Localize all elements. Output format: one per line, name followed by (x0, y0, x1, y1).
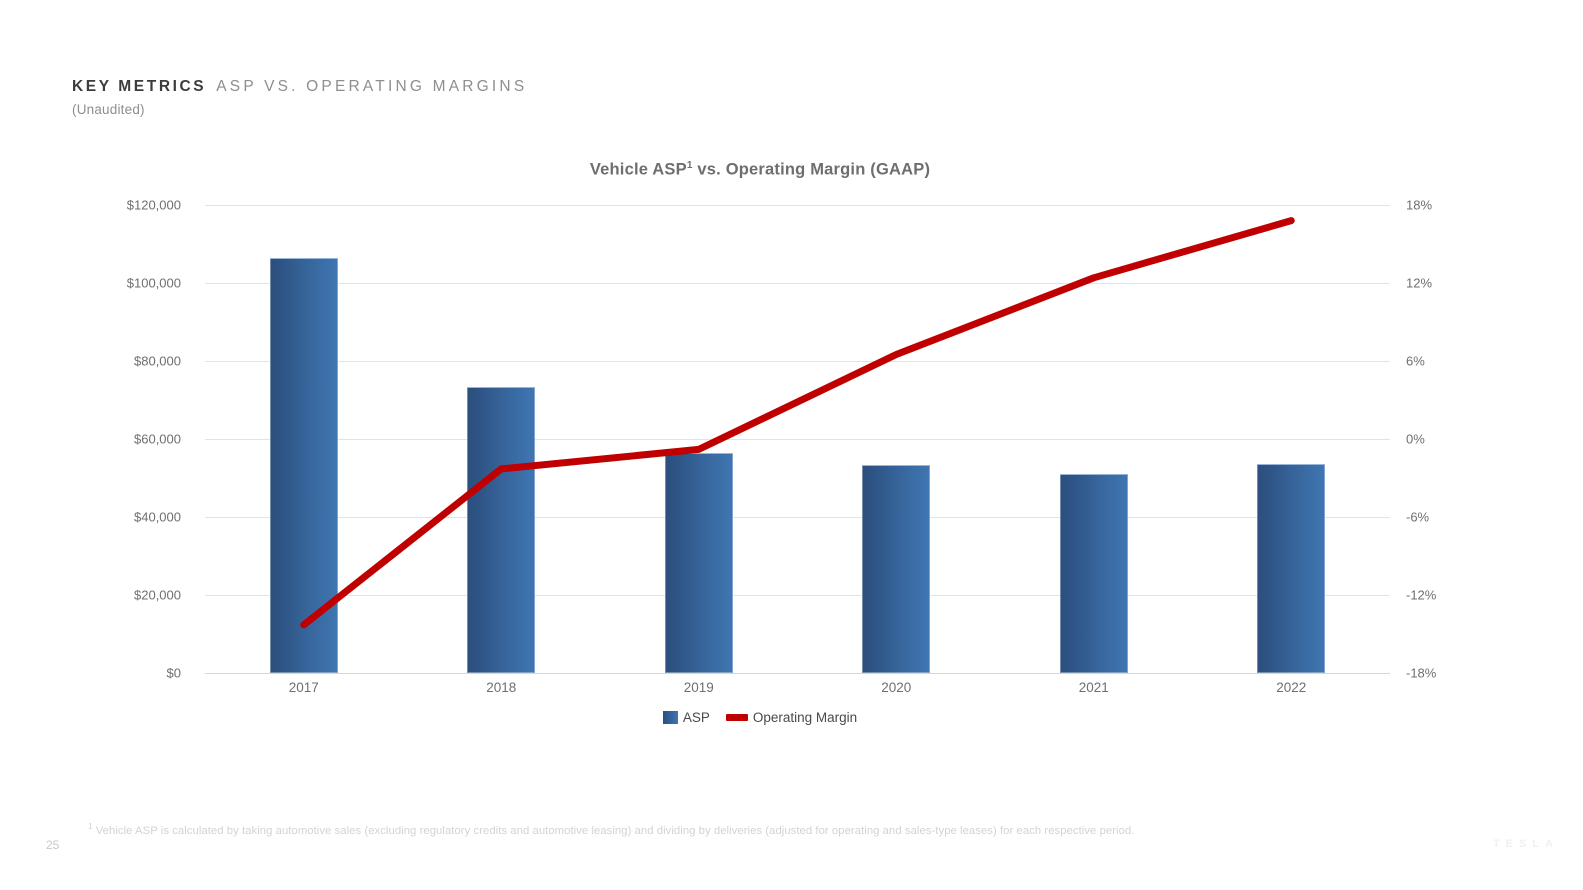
right-axis-labels: -18%-12%-6%0%6%12%18% (1396, 205, 1516, 673)
legend-swatch-line-icon (726, 714, 748, 721)
right-axis-tick: 0% (1406, 433, 1425, 446)
right-axis-tick: 6% (1406, 355, 1425, 368)
x-axis-tick-2022: 2022 (1276, 680, 1306, 695)
legend-item-asp[interactable]: ASP (663, 710, 710, 725)
right-axis-tick: -6% (1406, 511, 1429, 524)
operating-margin-line (304, 221, 1292, 625)
unaudited-note: (Unaudited) (72, 102, 527, 117)
legend-swatch-bar-icon (663, 711, 678, 724)
left-axis-labels: $0$20,000$40,000$60,000$80,000$100,000$1… (0, 205, 195, 673)
left-axis-tick: $60,000 (134, 433, 181, 446)
left-axis-tick: $40,000 (134, 511, 181, 524)
legend-item-operating-margin[interactable]: Operating Margin (726, 710, 857, 725)
chart-title: Vehicle ASP1 vs. Operating Margin (GAAP) (0, 160, 1520, 180)
left-axis-tick: $20,000 (134, 589, 181, 602)
x-axis-labels: 201720182019202020212022 (205, 680, 1390, 710)
chart-title-main: Vehicle ASP (590, 161, 687, 179)
gridline (205, 673, 1390, 674)
x-axis-tick-2021: 2021 (1079, 680, 1109, 695)
x-axis-tick-2019: 2019 (684, 680, 714, 695)
right-axis-tick: 18% (1406, 199, 1432, 212)
legend-label-asp: ASP (683, 710, 710, 725)
line-series (205, 205, 1390, 673)
right-axis-tick: 12% (1406, 277, 1432, 290)
left-axis-tick: $120,000 (127, 199, 181, 212)
right-axis-tick: -12% (1406, 589, 1436, 602)
left-axis-tick: $0 (167, 667, 181, 680)
left-axis-tick: $100,000 (127, 277, 181, 290)
slide-kicker-sub: ASP VS. OPERATING MARGINS (216, 78, 527, 95)
x-axis-tick-2020: 2020 (881, 680, 911, 695)
footnote: 1 Vehicle ASP is calculated by taking au… (88, 822, 1388, 837)
right-axis-tick: -18% (1406, 667, 1436, 680)
slide-kicker-main: KEY METRICS (72, 78, 206, 95)
slide-kicker: KEY METRICSASP VS. OPERATING MARGINS (72, 78, 527, 96)
page-number: 25 (46, 838, 59, 852)
tesla-wordmark: TESLA (1493, 838, 1559, 850)
footnote-text: Vehicle ASP is calculated by taking auto… (93, 825, 1135, 837)
legend-label-operating-margin: Operating Margin (753, 710, 857, 725)
plot-area (205, 205, 1390, 673)
slide-header: KEY METRICSASP VS. OPERATING MARGINS (Un… (72, 78, 527, 117)
x-axis-tick-2018: 2018 (486, 680, 516, 695)
chart-container: Vehicle ASP1 vs. Operating Margin (GAAP)… (0, 150, 1583, 750)
chart-title-rest: vs. Operating Margin (GAAP) (693, 161, 931, 179)
chart-legend: ASP Operating Margin (0, 710, 1520, 725)
x-axis-tick-2017: 2017 (289, 680, 319, 695)
left-axis-tick: $80,000 (134, 355, 181, 368)
